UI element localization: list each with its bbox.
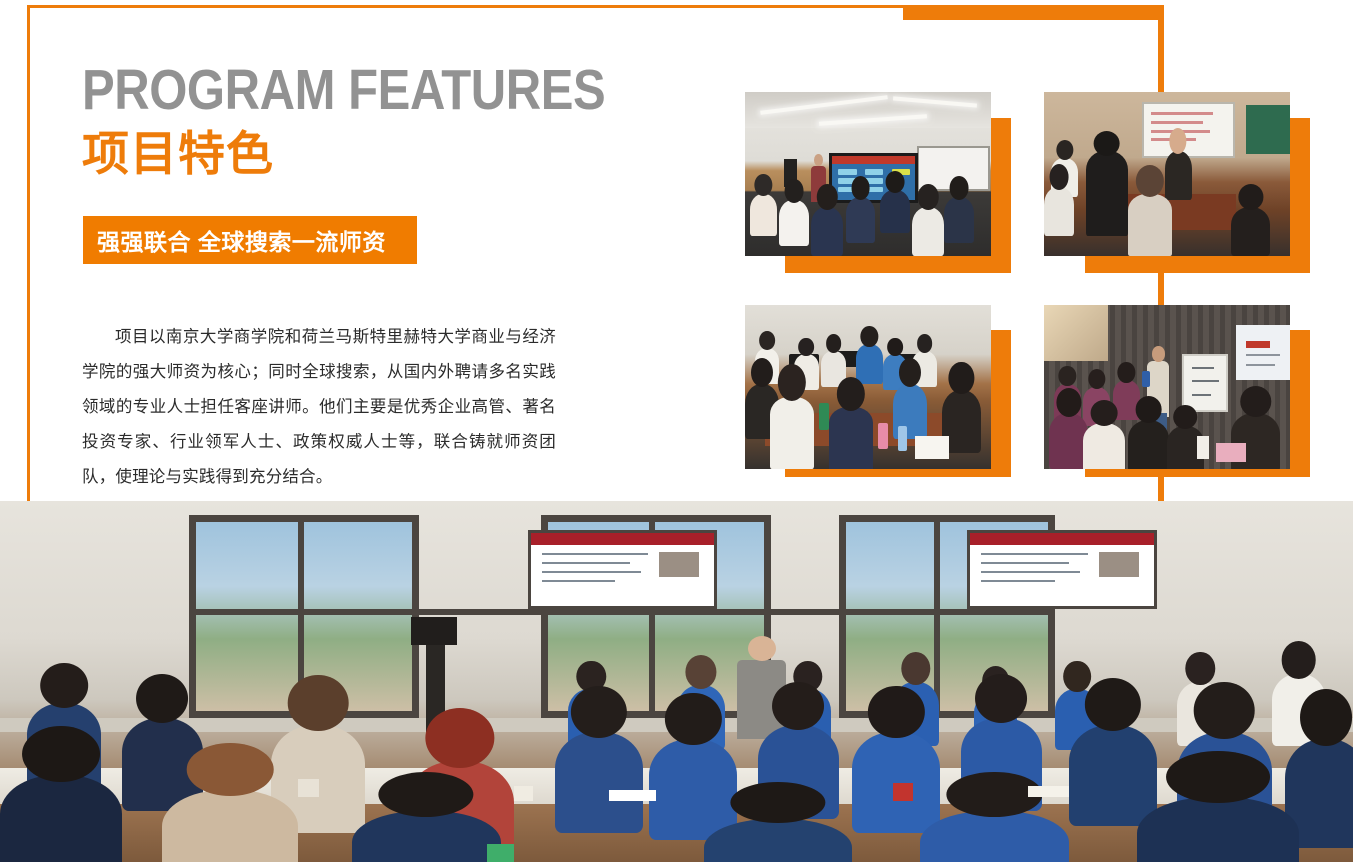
scene-art-2 (1044, 92, 1290, 256)
photo-seminar-discussion (1044, 92, 1290, 256)
orange-frame-left (27, 5, 30, 501)
orange-frame-top-thick (903, 5, 1164, 20)
scene-art-3 (745, 305, 991, 469)
highlight-banner: 强强联合 全球搜索一流师资 (83, 216, 417, 264)
photo-classroom-presentation (745, 92, 991, 256)
scene-art-1 (745, 92, 991, 256)
scene-art-4 (1044, 305, 1290, 469)
photo-large-lecture-hall (0, 501, 1353, 862)
highlight-banner-label: 强强联合 全球搜索一流师资 (83, 223, 386, 257)
page-title-chinese: 项目特色 (82, 126, 274, 182)
orange-frame-top-thin (27, 5, 904, 8)
page-title-english: PROGRAM FEATURES (82, 58, 605, 122)
photo-guest-lecturer (1044, 305, 1290, 469)
body-paragraph: 项目以南京大学商学院和荷兰马斯特里赫特大学商业与经济学院的强大师资为核心；同时全… (82, 320, 556, 495)
scene-art-hero (0, 501, 1353, 862)
photo-group-workshop (745, 305, 991, 469)
program-features-page: PROGRAM FEATURES 项目特色 强强联合 全球搜索一流师资 项目以南… (0, 0, 1353, 862)
